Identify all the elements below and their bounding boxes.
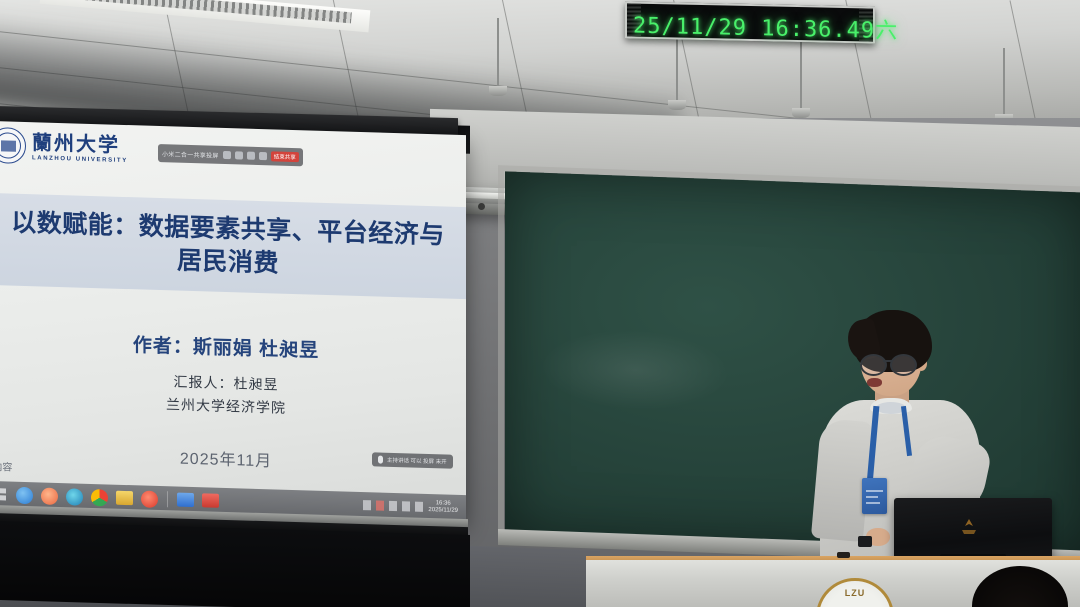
- share-label: 小米二合一共享投屏: [162, 149, 219, 160]
- edge-icon[interactable]: [66, 488, 83, 506]
- notes-icon[interactable]: [116, 491, 133, 506]
- search-icon[interactable]: [41, 487, 58, 505]
- cloud-icon[interactable]: [223, 151, 231, 159]
- taskbar-clock-date: 2025/11/29: [428, 507, 458, 515]
- lanzhou-university-logo: 蘭州大学 LANZHOU UNIVERSITY: [0, 127, 128, 167]
- notification-icon[interactable]: [415, 502, 423, 512]
- stop-share-button[interactable]: 结束共享: [271, 151, 299, 162]
- marker-pen[interactable]: [837, 552, 850, 558]
- university-name-cn: 蘭州大学: [32, 132, 128, 155]
- lamp-cone-icon: [668, 100, 686, 110]
- mic-status-toolbar[interactable]: 主持讲话 可以 投屏 未开: [372, 452, 453, 468]
- qq-browser-icon[interactable]: [16, 486, 33, 504]
- university-seal-icon: [0, 127, 26, 164]
- eyeglasses-right-lens-icon: [890, 354, 917, 376]
- eyeglasses-bridge-icon: [883, 360, 892, 362]
- battery-icon[interactable]: [363, 500, 371, 510]
- presentation-slide[interactable]: 蘭州大学 LANZHOU UNIVERSITY 小米二合一共享投屏 结束共享 以…: [0, 121, 466, 521]
- hanging-rod: [497, 18, 499, 90]
- volume-icon[interactable]: [389, 501, 397, 511]
- floor-shadow-strip: [0, 521, 470, 607]
- chrome-icon[interactable]: [91, 488, 108, 506]
- lamp-cone-icon: [792, 108, 810, 118]
- taskbar-clock[interactable]: 16:36 2025/11/29: [428, 500, 458, 515]
- screen-share-toolbar[interactable]: 小米二合一共享投屏 结束共享: [158, 144, 303, 166]
- monitor-icon[interactable]: [235, 151, 243, 159]
- presentation-clicker[interactable]: [858, 536, 872, 547]
- media-icon[interactable]: [141, 490, 158, 508]
- laptop-brand-logo-icon: [956, 518, 982, 540]
- led-wall-clock: 25/11/29 16:36.49六: [625, 1, 875, 43]
- hanging-rod: [800, 38, 802, 112]
- podium-seal-text: LZU: [845, 588, 866, 598]
- pause-icon[interactable]: [247, 152, 255, 160]
- taskbar-tray[interactable]: 16:36 2025/11/29: [363, 498, 460, 515]
- microphone-icon[interactable]: [378, 456, 383, 464]
- lamp-cone-icon: [489, 86, 507, 96]
- hanging-rod: [1003, 48, 1005, 118]
- slide-title-band: 以数赋能：数据要素共享、平台经济与 居民消费: [0, 192, 466, 299]
- mic-status-label: 主持讲话 可以 投屏 未开: [387, 456, 447, 466]
- eyeglasses-left-lens-icon: [860, 354, 887, 376]
- windows-start-icon[interactable]: [0, 488, 6, 500]
- projection-screen[interactable]: 蘭州大学 LANZHOU UNIVERSITY 小米二合一共享投屏 结束共享 以…: [0, 121, 466, 521]
- meeting-icon[interactable]: [177, 493, 194, 508]
- slide-side-note: ...的内容: [0, 458, 12, 474]
- chalkboard-glare: [540, 327, 730, 414]
- presenter-mouth: [867, 378, 882, 387]
- led-clock-text: 25/11/29 16:36.49六: [633, 8, 869, 45]
- hanging-rod: [676, 30, 678, 104]
- batten-screw: [478, 203, 485, 210]
- network-icon[interactable]: [376, 500, 384, 510]
- slide-authors: 作者：斯丽娟 杜昶昱: [0, 326, 466, 367]
- wps-icon[interactable]: [202, 493, 219, 508]
- help-icon[interactable]: [259, 152, 267, 160]
- ime-icon[interactable]: [402, 501, 410, 511]
- id-badge: [862, 478, 887, 514]
- classroom-scene: 25/11/29 16:36.49六 蘭州大学 LANZHOU UNIVERSI…: [0, 0, 1080, 607]
- taskbar-divider: [167, 491, 168, 507]
